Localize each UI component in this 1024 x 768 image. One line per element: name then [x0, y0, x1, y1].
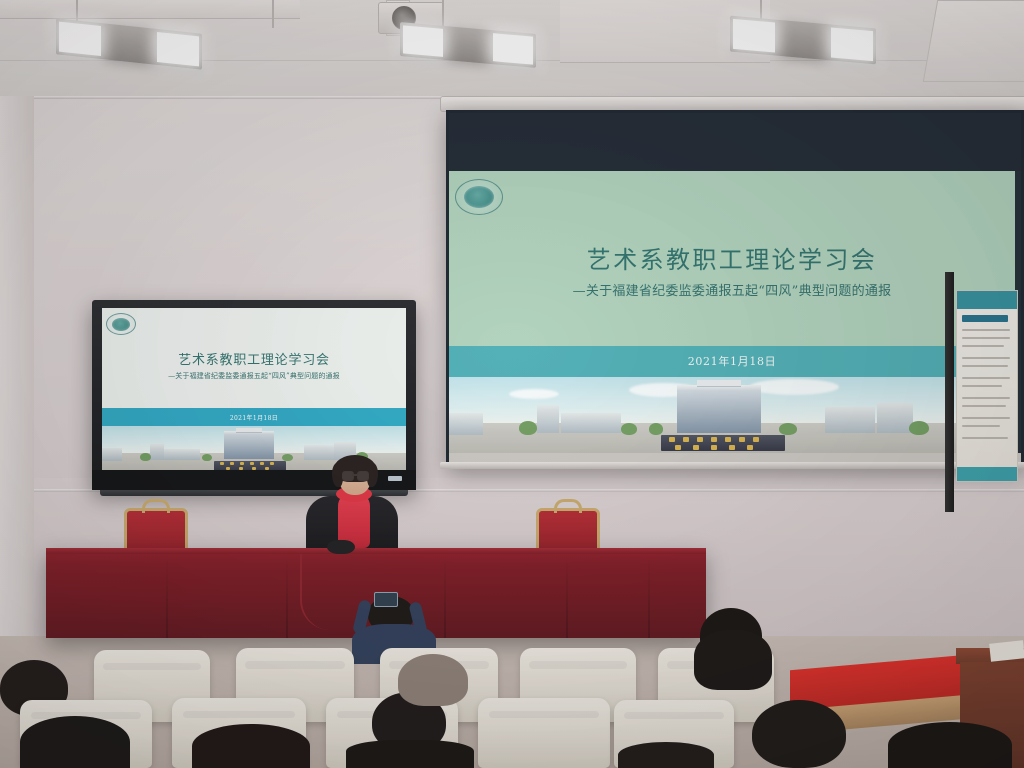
campus-building: [561, 413, 621, 433]
tree: [621, 423, 637, 435]
campus-building: [164, 449, 200, 460]
campus-building: [825, 407, 875, 433]
university-seal-icon: [455, 179, 503, 215]
light-tube: [59, 22, 101, 56]
tv-slide-date: 2021年1月18日: [230, 413, 278, 422]
monument-char: [697, 437, 703, 442]
desk-microphone[interactable]: [327, 540, 355, 554]
light-tube: [831, 27, 873, 61]
chair-handle: [554, 499, 582, 513]
audience-head-with-cap: [398, 654, 468, 706]
audience-head-front: [888, 722, 1012, 768]
table-top-edge: [46, 548, 706, 554]
light-tube: [157, 32, 199, 66]
monument-char: [729, 445, 735, 450]
campus-building: [150, 444, 164, 460]
tree: [202, 454, 212, 461]
monument-char: [711, 437, 717, 442]
drape-fold: [566, 556, 568, 638]
poster-text-line: [962, 425, 1000, 427]
building-cap: [236, 428, 262, 433]
slide-subtitle: —关于福建省纪委监委通报五起“四风”典型问题的通报: [573, 280, 892, 299]
campus-building: [102, 448, 122, 461]
ceiling-soffit-left: [0, 0, 300, 19]
slide-date-band: 2021年1月18日: [449, 346, 1015, 377]
tree: [909, 421, 929, 435]
tree: [519, 421, 537, 435]
glasses-lens: [342, 471, 354, 481]
monument-char: [683, 437, 689, 442]
poster-text-line: [962, 345, 1004, 347]
seal-emblem: [464, 186, 494, 208]
monument-char: [250, 462, 254, 465]
poster-text-line: [962, 437, 1008, 439]
poster-title-bar: [962, 315, 1008, 322]
poster-header: [957, 291, 1017, 309]
monument-char: [260, 462, 264, 465]
glasses-bridge: [352, 474, 357, 476]
slide-projected: 艺术系教职工理论学习会 —关于福建省纪委监委通报五起“四风”典型问题的通报 20…: [449, 171, 1015, 453]
tree: [649, 423, 663, 435]
audience-hair: [694, 630, 772, 690]
audience-head: [752, 700, 846, 768]
projector-screen[interactable]: 艺术系教职工理论学习会 —关于福建省纪委监委通报五起“四风”典型问题的通报 20…: [446, 110, 1024, 468]
lecture-hall-photo: 艺术系教职工理论学习会 —关于福建省纪委监委通报五起“四风”典型问题的通报 20…: [0, 0, 1024, 768]
monument-char: [220, 462, 224, 465]
poster-text-line: [962, 417, 1010, 419]
tree: [140, 453, 151, 461]
poster-text-line: [962, 337, 1010, 339]
wall-pillar-left: [0, 96, 34, 656]
campus-building: [877, 403, 913, 433]
poster-text-line: [962, 385, 1002, 387]
campus-building: [304, 445, 334, 460]
poster-text-line: [962, 405, 1006, 407]
speaker-glasses-icon: [342, 471, 368, 479]
poster-text-line: [962, 377, 1010, 379]
drape-fold: [166, 556, 168, 638]
cloud: [749, 379, 839, 395]
slide-date: 2021年1月18日: [688, 353, 777, 369]
cloud: [509, 389, 559, 399]
poster-text-line: [962, 397, 1010, 399]
projector-screen-weight-bar: [440, 462, 1024, 469]
poster-text-line: [962, 357, 1010, 359]
campus-building: [449, 413, 483, 435]
tree: [779, 423, 797, 435]
screen-top-band: [449, 113, 1021, 171]
lectern-papers: [989, 640, 1024, 661]
main-building: [677, 385, 761, 433]
poster-text-line: [962, 365, 1008, 367]
monument-char: [693, 445, 699, 450]
drape-fold: [444, 556, 446, 638]
audience-chair[interactable]: [478, 698, 610, 768]
monument-char: [747, 445, 753, 450]
wall-notice-board: [956, 290, 1018, 482]
poster-footer-strip: [957, 467, 1017, 481]
tv-slide-date-band: 2021年1月18日: [102, 408, 406, 426]
campus-building: [537, 405, 559, 433]
drape-fold: [648, 556, 650, 638]
slide-title: 艺术系教职工理论学习会: [587, 240, 877, 275]
monument-char: [230, 462, 234, 465]
seal-emblem: [112, 318, 130, 331]
tree: [282, 454, 293, 461]
ceiling-duct-right: [923, 0, 1024, 82]
light-stem-2: [272, 0, 274, 28]
monument-char: [669, 437, 675, 442]
main-building: [224, 431, 274, 459]
smartphone[interactable]: [374, 592, 398, 607]
slide-on-tv: 艺术系教职工理论学习会 —关于福建省纪委监委通报五起“四风”典型问题的通报 20…: [102, 308, 406, 470]
monument-char: [270, 462, 274, 465]
tv-logo-badge: [388, 476, 402, 481]
audience-head-front: [20, 716, 130, 768]
monument-char: [739, 437, 745, 442]
poster-text-line: [962, 329, 1010, 331]
door-jamb: [945, 272, 954, 512]
chair-handle: [142, 499, 170, 513]
light-tube: [493, 33, 533, 64]
monument-char: [675, 445, 681, 450]
monument-char: [240, 462, 244, 465]
monument-char: [725, 437, 731, 442]
tv-slide-title: 艺术系教职工理论学习会: [178, 349, 330, 368]
glasses-lens: [357, 471, 369, 481]
audience-head-front: [192, 724, 310, 768]
audience-head-front: [618, 742, 714, 768]
light-tube: [403, 25, 443, 56]
slide-header-area: 艺术系教职工理论学习会 —关于福建省纪委监委通报五起“四风”典型问题的通报: [449, 171, 1015, 346]
monument-char: [753, 437, 759, 442]
monument-char: [711, 445, 717, 450]
building-cap: [697, 380, 741, 387]
tv-slide-subtitle: —关于福建省纪委监委通报五起“四风”典型问题的通报: [168, 371, 340, 381]
drape-fold: [286, 556, 288, 638]
light-tube: [733, 19, 775, 53]
campus-photo: [449, 377, 1015, 453]
tv-slide-header-area: 艺术系教职工理论学习会 —关于福建省纪委监委通报五起“四风”典型问题的通报: [102, 308, 406, 408]
university-seal-icon: [106, 313, 136, 335]
audience-shoulders: [346, 740, 474, 768]
